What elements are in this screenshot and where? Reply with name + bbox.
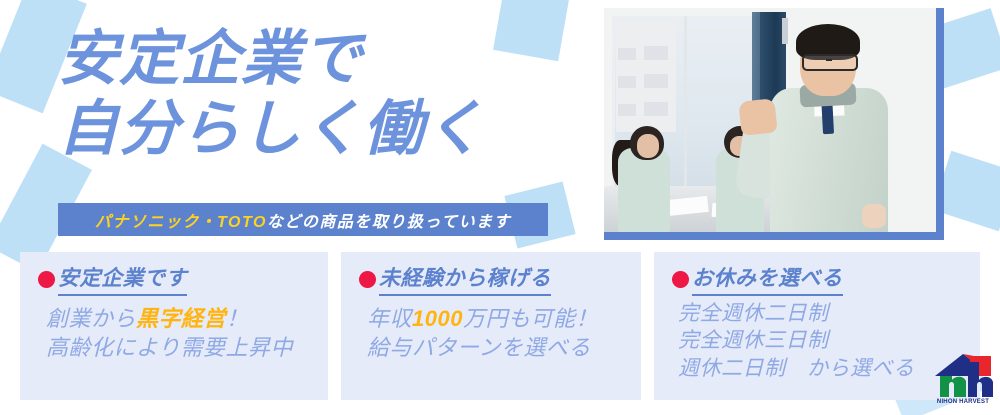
logo-company-name: NIHON HARVEST	[930, 399, 996, 405]
feature-heading-text: 未経験から稼げる	[379, 262, 551, 296]
feature-box-earnings: 未経験から稼げる 年収1000万円も可能！ 給与パターンを選べる	[341, 252, 641, 400]
subtitle-ribbon: パナソニック・TOTOなどの商品を取り扱っています	[58, 203, 548, 236]
feature-body-pre: 高齢化により需要上昇中	[46, 335, 293, 360]
feature-body: 創業から黒字経営！ 高齢化により需要上昇中	[46, 304, 328, 363]
photo-building-detail	[618, 48, 636, 60]
headline-line-2: 自分らしく働く	[58, 94, 485, 164]
feature-heading-text: お休みを選べる	[692, 262, 843, 296]
feature-body-highlight: 1000	[412, 306, 463, 331]
feature-body-pre: 創業から	[46, 306, 136, 331]
feature-heading: 安定企業です	[38, 262, 328, 296]
photo-building-detail	[644, 102, 668, 116]
feature-boxes: 安定企業です 創業から黒字経営！ 高齢化により需要上昇中 未経験から稼げる 年収…	[20, 252, 980, 400]
photo-man-fist	[738, 98, 777, 136]
feature-body-highlight: 黒字経営	[136, 306, 226, 331]
red-circle-bullet-icon	[672, 271, 689, 288]
feature-body-line: 完全週休二日制	[678, 300, 980, 327]
headline: 安定企業で 自分らしく働く	[58, 24, 485, 163]
feature-body-post: 万円も可能！	[463, 306, 598, 331]
photo-curtain-rod	[782, 18, 788, 44]
photo-building-detail	[618, 104, 636, 116]
headline-line-1: 安定企業で	[58, 25, 363, 92]
photo-man-glasses-icon	[802, 54, 858, 71]
decorative-square-icon	[493, 0, 569, 61]
feature-heading-text: 安定企業です	[58, 262, 187, 296]
photo-man-glasses-bridge	[826, 59, 832, 61]
photo-building-detail	[644, 74, 668, 88]
feature-body-line: 高齢化により需要上昇中	[46, 333, 328, 362]
feature-heading: 未経験から稼げる	[359, 262, 641, 296]
feature-body-pre: 給与パターンを選べる	[367, 335, 591, 360]
red-circle-bullet-icon	[38, 271, 55, 288]
feature-heading: お休みを選べる	[672, 262, 980, 296]
red-circle-bullet-icon	[359, 271, 376, 288]
feature-body-line: 給与パターンを選べる	[367, 333, 641, 362]
feature-body-post: ！	[226, 306, 249, 331]
company-logo: NIHON HARVEST	[930, 346, 996, 406]
photo-man-hand	[862, 204, 886, 228]
nihon-harvest-logo-icon	[930, 346, 996, 406]
feature-body-line: 年収1000万円も可能！	[367, 304, 641, 333]
photo-building-detail	[618, 76, 636, 88]
job-ad-banner: 安定企業で 自分らしく働く パナソニック・TOTOなどの商品を取り扱っています	[0, 0, 1000, 415]
subtitle-text: パナソニック・TOTOなどの商品を取り扱っています	[95, 208, 511, 232]
photo-frame	[604, 8, 944, 240]
photo-building-detail	[644, 46, 668, 60]
office-photo	[604, 8, 936, 232]
photo-window-mullion	[684, 16, 687, 186]
feature-body: 年収1000万円も可能！ 給与パターンを選べる	[367, 304, 641, 363]
feature-body-line: 創業から黒字経営！	[46, 304, 328, 333]
feature-box-stability: 安定企業です 創業から黒字経営！ 高齢化により需要上昇中	[20, 252, 328, 400]
subtitle-rest: などの商品を取り扱っています	[267, 214, 511, 231]
feature-body-pre: 年収	[367, 306, 412, 331]
subtitle-brands: パナソニック・TOTO	[95, 214, 267, 231]
photo-worker-face	[637, 134, 659, 158]
photo-worker-body	[618, 148, 670, 232]
